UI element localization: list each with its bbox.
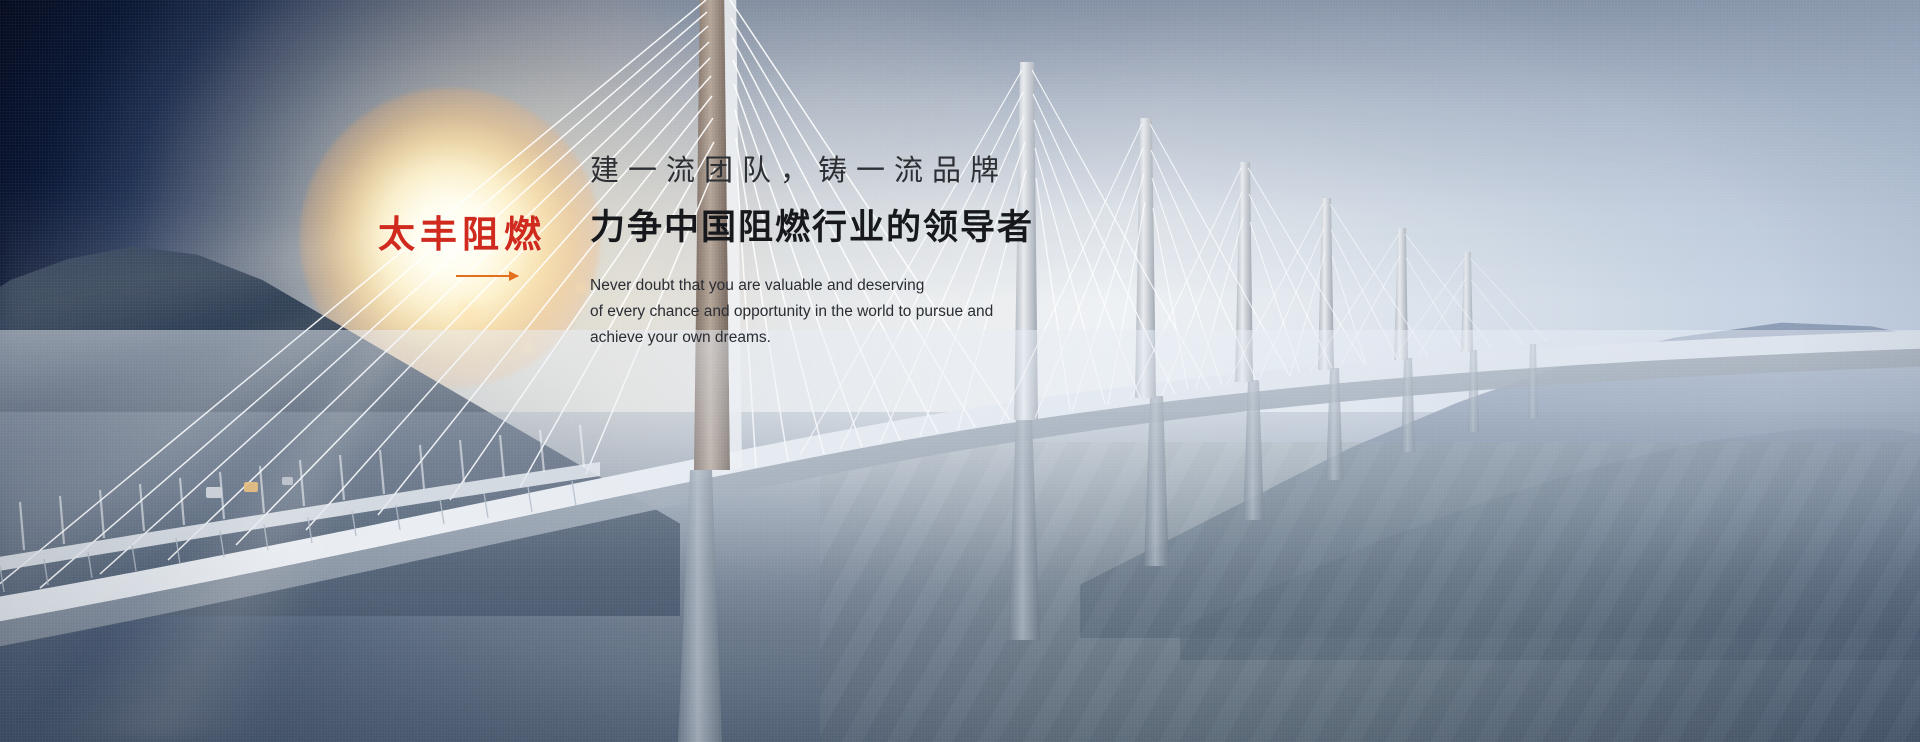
hero-banner: 太丰阻燃 建一流团队，铸一流品牌 力争中国阻燃行业的领导者 Never doub…	[0, 0, 1920, 742]
banner-subheadline: 建一流团队，铸一流品牌	[590, 152, 1190, 191]
brand-logo-text: 太丰阻燃	[378, 216, 578, 253]
arrow-right-icon	[456, 275, 518, 277]
banner-content: 太丰阻燃 建一流团队，铸一流品牌 力争中国阻燃行业的领导者 Never doub…	[0, 0, 1920, 742]
banner-text-block: 建一流团队，铸一流品牌 力争中国阻燃行业的领导者 Never doubt tha…	[590, 152, 1190, 351]
banner-paragraph: Never doubt that you are valuable and de…	[590, 273, 1060, 351]
brand-logo[interactable]: 太丰阻燃	[378, 216, 578, 277]
paragraph-line: of every chance and opportunity in the w…	[590, 299, 1060, 325]
banner-headline: 力争中国阻燃行业的领导者	[590, 205, 1190, 251]
paragraph-line: achieve your own dreams.	[590, 325, 1060, 351]
paragraph-line: Never doubt that you are valuable and de…	[590, 273, 1060, 299]
